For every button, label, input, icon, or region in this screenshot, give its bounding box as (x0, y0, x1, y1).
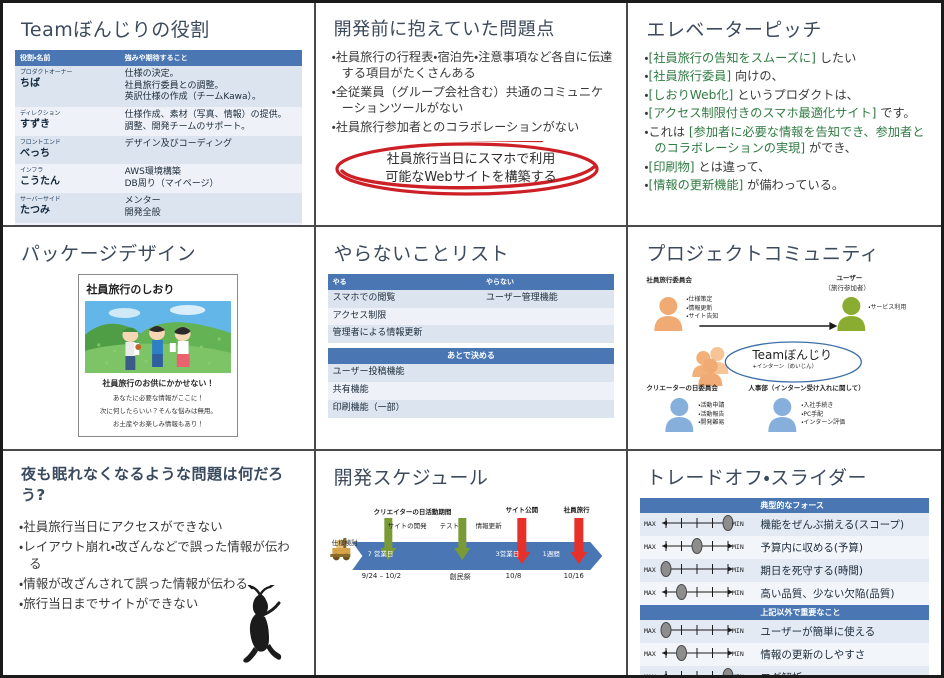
svg-text:MAX: MAX (644, 673, 656, 675)
slide-grid: Teamぼんじりの役割 役割・名前 強みや期待すること プロダクトオーナーちば仕… (3, 3, 941, 675)
list-item: ・全従業員（グループ会社含む）共通のコミュニケーションツールがない (332, 84, 613, 117)
page-title: パッケージデザイン (21, 239, 302, 266)
tradeoff-row[interactable]: MAX MIN 機能をぜんぶ揃える(スコープ) (640, 513, 929, 536)
callout-text: 社員旅行当日にスマホで利用 可能なWebサイトを構築する (332, 141, 611, 197)
node-label-hr: 人事部（インターン受け入れに関して） (748, 382, 864, 392)
later-table: あとで決める ユーザー投稿機能共有機能印刷機能（一部） (328, 348, 615, 417)
header-spacer (640, 605, 756, 620)
cell-role: ディレクションすずき (15, 107, 120, 136)
header-label: 上記以外で重要なこと (756, 605, 929, 620)
page-title: やらないことリスト (334, 239, 615, 266)
cell-strength: デザイン及びコーディング (120, 136, 302, 163)
svg-text:MIN: MIN (732, 566, 744, 574)
segment-inside-0: 7 営業日 (368, 548, 394, 558)
slide-elevator-pitch[interactable]: エレベーターピッチ ・[社員旅行の告知をスムーズに] したい・[社員旅行委員] … (628, 3, 941, 227)
table-row: スマホでの閲覧ユーザー管理機能 (328, 290, 615, 308)
table-row: 共有機能 (328, 382, 615, 400)
segment-inside-2: 3営業日 (496, 548, 520, 558)
center-label: Teamぼんじり (752, 346, 832, 363)
slider-cell[interactable]: MAX MIN (640, 582, 756, 605)
cell-strength: メンター開発全般 (120, 193, 302, 222)
cell-strength: 仕様作成、素材（写真、情報）の提供。調整、開発チームのサポート。 (120, 107, 302, 136)
node-label-committee: 社員旅行委員会 (646, 274, 692, 284)
cell-strength: AWS環境構築DB周り（マイページ） (120, 164, 302, 193)
slider-cell[interactable]: MAX MIN (640, 666, 756, 675)
table-header-row: 役割・名前 強みや期待すること (15, 50, 302, 66)
list-item: ・[印刷物] とは違って、 (644, 159, 927, 175)
cell-role: サーバーサイドたつみ (15, 193, 120, 222)
svg-text:MAX: MAX (644, 520, 656, 528)
tradeoff-row[interactable]: MAX MIN ユーザーが簡単に使える (640, 620, 929, 643)
table-row: プロダクトオーナーちば仕様の決定。社員旅行委員との調整。英訳仕様の作成（チームK… (15, 66, 302, 107)
node-label-user-sub: （旅行参加者） (824, 282, 870, 292)
tradeoff-slider-icon[interactable]: MAX MIN (640, 582, 746, 602)
svg-text:MAX: MAX (644, 650, 656, 658)
tradeoff-label: ログ解析 (756, 666, 929, 675)
tradeoff-row[interactable]: MAX MIN ログ解析 (640, 666, 929, 675)
tradeoff-row[interactable]: MAX MIN 高い品質、少ない欠陥(品質) (640, 582, 929, 605)
conclusion-callout: 社員旅行当日にスマホで利用 可能なWebサイトを構築する (332, 141, 611, 197)
problem-bullet-list: ・社員旅行の行程表・宿泊先・注意事項など各自に伝達する項目がたくさんある・全従業… (328, 49, 615, 135)
svg-text:MIN: MIN (732, 589, 744, 597)
cell-later: 共有機能 (328, 382, 615, 400)
slide-contact-sheet: Teamぼんじりの役割 役割・名前 強みや期待すること プロダクトオーナーちば仕… (0, 0, 944, 678)
slide-tradeoff-slider[interactable]: トレードオフ・スライダー 典型的なフォース MAX MIN 機能をぜんぶ揃える(… (628, 451, 941, 675)
community-diagram: 社員旅行委員会 ・仕様策定・情報更新・サイト告知 ユーザー （旅行参加者） ・サ… (640, 274, 929, 434)
table-row: 管理者による情報更新 (328, 325, 615, 343)
tradeoff-group1-header: 典型的なフォース (640, 498, 929, 513)
tradeoff-label: 高い品質、少ない欠陥(品質) (756, 582, 929, 605)
page-title: Teamぼんじりの役割 (21, 15, 302, 42)
later-body: ユーザー投稿機能共有機能印刷機能（一部） (328, 364, 615, 417)
table-row: 印刷機能（一部） (328, 400, 615, 418)
table-row: ディレクションすずき仕様作成、素材（写真、情報）の提供。調整、開発チームのサポー… (15, 107, 302, 136)
svg-text:MAX: MAX (644, 566, 656, 574)
tradeoff-row[interactable]: MAX MIN 期日を死守する(時間) (640, 559, 929, 582)
cell-dont (481, 325, 614, 343)
cell-do: スマホでの閲覧 (328, 290, 481, 308)
tradeoff-slider-icon[interactable]: MAX MIN (640, 666, 746, 675)
package-copy-line: お土産やお楽しみ情報もあり！ (85, 418, 231, 428)
table-row: サーバーサイドたつみメンター開発全般 (15, 193, 302, 222)
table-row: ユーザー投稿機能 (328, 364, 615, 382)
node-items-committee: ・仕様策定・情報更新・サイト告知 (686, 296, 718, 322)
segment-date-0: 9/24 – 10/2 (362, 572, 401, 580)
node-items-creator: ・活動申請・活動報告・開発難易 (698, 402, 724, 428)
cell-do: 管理者による情報更新 (328, 325, 481, 343)
node-label-creator: クリエーターの日委員会 (646, 382, 718, 392)
label-site-dev: サイトの開発 (388, 520, 427, 530)
cell-later: ユーザー投稿機能 (328, 364, 615, 382)
col-role: 役割・名前 (15, 50, 120, 66)
schedule-timeline: 仕様検討 クリエイターの日活動期間 サイトの開発 テスト 情報更新 サイト公開 … (328, 504, 615, 624)
tradeoff-table: 典型的なフォース MAX MIN 機能をぜんぶ揃える(スコープ) MAX MIN… (640, 498, 929, 675)
tradeoff-label: 機能をぜんぶ揃える(スコープ) (756, 513, 929, 536)
callout-line-1: 社員旅行当日にスマホで利用 (387, 151, 556, 169)
list-item: ・社員旅行の行程表・宿泊先・注意事項など各自に伝達する項目がたくさんある (332, 49, 613, 82)
cover-illustration (85, 301, 231, 373)
node-label-user: ユーザー (836, 272, 862, 282)
col-dont: やらない (481, 274, 614, 290)
node-items-user: ・サービス利用 (868, 304, 906, 313)
tradeoff-slider-icon[interactable]: MAX MIN (640, 620, 746, 640)
cover-title: 社員旅行のしおり (86, 281, 231, 297)
svg-text:MIN: MIN (732, 627, 744, 635)
person-user-icon (838, 297, 866, 331)
header-spacer (640, 498, 756, 513)
package-copy-lines: あなたに必要な情報がここに！次に何したらいい？そんな悩みは無用。お土産やお楽しみ… (85, 392, 231, 428)
slider-cell[interactable]: MAX MIN (640, 559, 756, 582)
cell-later: 印刷機能（一部） (328, 400, 615, 418)
tradeoff-slider-icon[interactable]: MAX MIN (640, 513, 746, 533)
later-band: あとで決める (328, 348, 615, 364)
svg-text:MAX: MAX (644, 627, 656, 635)
later-band-row: あとで決める (328, 348, 615, 364)
node-items-hr: ・入社手続き・PC手配・インターン評価 (801, 402, 845, 428)
tradeoff-slider-icon[interactable]: MAX MIN (640, 536, 746, 556)
slide-roles[interactable]: Teamぼんじりの役割 役割・名前 強みや期待すること プロダクトオーナーちば仕… (3, 3, 316, 227)
col-strength: 強みや期待すること (120, 50, 302, 66)
svg-text:MIN: MIN (732, 520, 744, 528)
segment-date-3: 10/16 (564, 572, 584, 580)
slide-not-do-list[interactable]: やらないことリスト やる やらない スマホでの閲覧ユーザー管理機能アクセス制限管… (316, 227, 629, 451)
package-mockup: 社員旅行のしおり (78, 274, 238, 437)
list-item: ・[情報の更新機能] が備わっている。 (644, 177, 927, 193)
list-item: ・[社員旅行委員] 向けの、 (644, 68, 927, 84)
cell-strength: 仕様の決定。社員旅行委員との調整。英訳仕様の作成（チームKawa）。 (120, 66, 302, 107)
tradeoff-row[interactable]: MAX MIN 情報の更新のしやすさ (640, 643, 929, 666)
list-item: ・[しおりWeb化] というプロダクトは、 (644, 87, 927, 103)
page-title: 開発スケジュール (334, 463, 615, 490)
not-do-table: やる やらない スマホでの閲覧ユーザー管理機能アクセス制限管理者による情報更新 (328, 274, 615, 343)
label-creator-day: クリエイターの日活動期間 (374, 506, 452, 516)
slider-cell[interactable]: MAX MIN (640, 513, 756, 536)
tradeoff-label: 期日を死守する(時間) (756, 559, 929, 582)
cell-do: アクセス制限 (328, 308, 481, 326)
label-trip: 社員旅行 (564, 504, 590, 514)
center-sublabel: +インターン（めいじん） (752, 362, 817, 370)
cell-role: フロントエンドべっち (15, 136, 120, 163)
slide-schedule[interactable]: 開発スケジュール (316, 451, 629, 675)
pitch-line-list: ・[社員旅行の告知をスムーズに] したい・[社員旅行委員] 向けの、・[しおりW… (640, 50, 929, 194)
table-row: アクセス制限 (328, 308, 615, 326)
slider-cell[interactable]: MAX MIN (640, 643, 756, 666)
label-spec: 仕様検討 (332, 537, 358, 547)
list-item: ・社員旅行参加者とのコラボレーションがない (332, 119, 613, 135)
page-title: プロジェクトコミュニティ (646, 239, 929, 266)
segment-date-1: 創民祭 (450, 572, 471, 582)
callout-line-2: 可能なWebサイトを構築する (385, 169, 556, 187)
tradeoff-body: 典型的なフォース MAX MIN 機能をぜんぶ揃える(スコープ) MAX MIN… (640, 498, 929, 675)
table-row: インフラこうたんAWS環境構築DB周り（マイページ） (15, 164, 302, 193)
roles-table-body: プロダクトオーナーちば仕様の決定。社員旅行委員との調整。英訳仕様の作成（チームK… (15, 66, 302, 227)
list-item: ・これは [参加者に必要な情報を告知でき、参加者とのコラボレーションの実現] が… (644, 124, 927, 157)
svg-text:MAX: MAX (644, 543, 656, 551)
list-item: ・[社員旅行の告知をスムーズに] したい (644, 50, 927, 66)
label-info-update: 情報更新 (476, 520, 502, 530)
list-item: ・社員旅行当日にアクセスができない (19, 519, 300, 536)
tradeoff-row[interactable]: MAX MIN 予算内に収める(予算) (640, 536, 929, 559)
list-item: ・[アクセス制限付きのスマホ最適化サイト] です。 (644, 105, 927, 121)
cell-dont (481, 308, 614, 326)
tradeoff-slider-icon[interactable]: MAX MIN (640, 559, 746, 579)
page-title: エレベーターピッチ (646, 15, 929, 42)
package-headline: 社員旅行のお供にかかせない！ (85, 378, 231, 389)
slide-package-design[interactable]: パッケージデザイン 社員旅行のしおり (3, 227, 316, 451)
svg-text:MIN: MIN (732, 543, 744, 551)
tradeoff-group2-header: 上記以外で重要なこと (640, 605, 929, 620)
svg-text:MIN: MIN (732, 650, 744, 658)
cell-dont: ユーザー管理機能 (481, 290, 614, 308)
package-copy-line: 次に何したらいい？そんな悩みは無用。 (85, 405, 231, 415)
svg-text:MAX: MAX (644, 589, 656, 597)
page-title: トレードオフ・スライダー (646, 463, 929, 490)
hikers-illustration-icon (85, 301, 231, 373)
table-header-row: やる やらない (328, 274, 615, 290)
slide-risks[interactable]: 夜も眠れなくなるような問題は何だろう? ・社員旅行当日にアクセスができない・レイ… (3, 451, 316, 675)
svg-text:MIN: MIN (732, 673, 744, 675)
roles-table: 役割・名前 強みや期待すること プロダクトオーナーちば仕様の決定。社員旅行委員と… (15, 50, 302, 227)
person-group-icon (693, 347, 729, 386)
slider-cell[interactable]: MAX MIN (640, 536, 756, 559)
slide-project-community[interactable]: プロジェクトコミュニティ (628, 227, 941, 451)
dancing-figure-icon (230, 585, 286, 669)
cell-role: インフラこうたん (15, 164, 120, 193)
table-row: フロントエンドべっちデザイン及びコーディング (15, 136, 302, 163)
slide-problems[interactable]: 開発前に抱えていた問題点 ・社員旅行の行程表・宿泊先・注意事項など各自に伝達する… (316, 3, 629, 227)
page-title: 夜も眠れなくなるような問題は何だろう? (21, 463, 302, 505)
tradeoff-label: ユーザーが簡単に使える (756, 620, 929, 643)
header-label: 典型的なフォース (756, 498, 929, 513)
package-copy-line: あなたに必要な情報がここに！ (85, 392, 231, 402)
slider-cell[interactable]: MAX MIN (640, 620, 756, 643)
tradeoff-slider-icon[interactable]: MAX MIN (640, 643, 746, 663)
segment-date-2: 10/8 (506, 572, 522, 580)
page-title: 開発前に抱えていた問題点 (334, 15, 615, 41)
person-committee-icon (655, 297, 683, 331)
cell-role: プロダクトオーナーちば (15, 66, 120, 107)
label-test: テスト (440, 520, 460, 530)
person-hr-icon (769, 398, 797, 432)
not-do-body: スマホでの閲覧ユーザー管理機能アクセス制限管理者による情報更新 (328, 290, 615, 343)
col-do: やる (328, 274, 481, 290)
list-item: ・レイアウト崩れ・改ざんなどで誤った情報が伝わる (19, 539, 300, 573)
label-release: サイト公開 (506, 504, 539, 514)
tradeoff-label: 情報の更新のしやすさ (756, 643, 929, 666)
person-creator-icon (666, 398, 694, 432)
tradeoff-label: 予算内に収める(予算) (756, 536, 929, 559)
segment-inside-3: 1週間 (543, 548, 560, 558)
